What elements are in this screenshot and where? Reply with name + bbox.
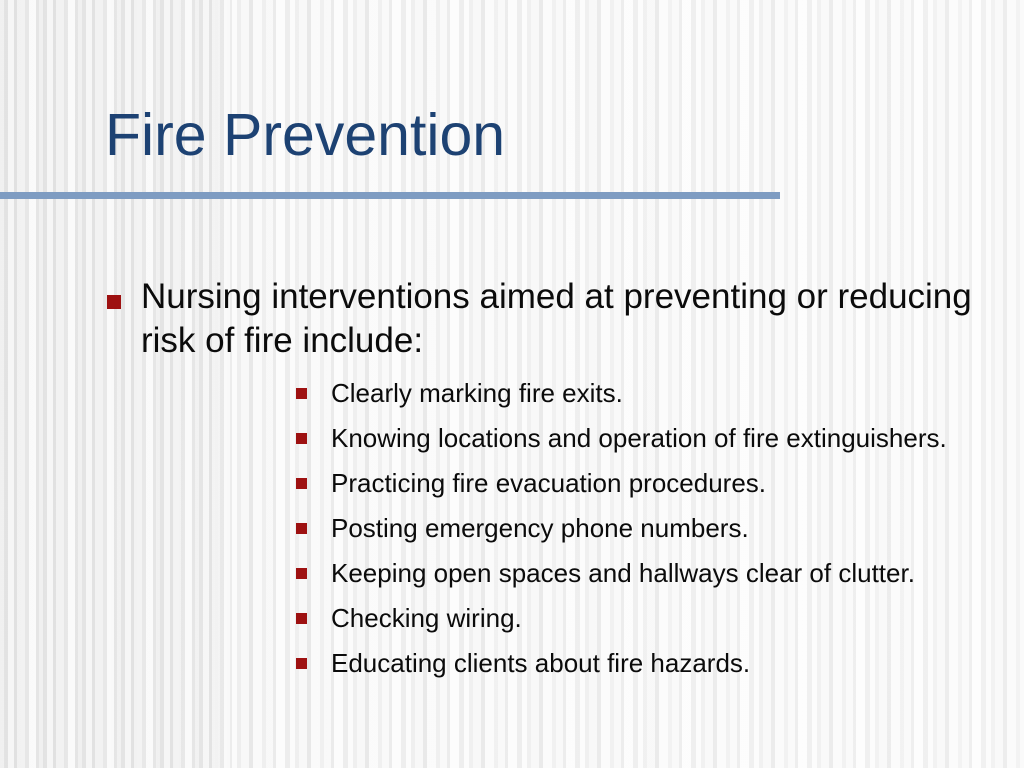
red-square-bullet-icon <box>296 568 307 579</box>
bullet-list-level1: Nursing interventions aimed at preventin… <box>0 275 1024 686</box>
list-item: Posting emergency phone numbers. <box>141 506 1024 551</box>
list-item: Knowing locations and operation of fire … <box>141 416 1024 461</box>
red-square-bullet-icon <box>296 433 307 444</box>
bullet-text-level2: Practicing fire evacuation procedures. <box>331 468 766 498</box>
red-square-bullet-icon <box>296 388 307 399</box>
red-square-bullet-icon <box>107 295 121 309</box>
list-item: Clearly marking fire exits. <box>141 371 1024 416</box>
red-square-bullet-icon <box>296 613 307 624</box>
red-square-bullet-icon <box>296 478 307 489</box>
bullet-list-level2: Clearly marking fire exits. Knowing loca… <box>141 371 1024 686</box>
list-item: Educating clients about fire hazards. <box>141 641 1024 686</box>
bullet-text-level2: Educating clients about fire hazards. <box>331 648 750 678</box>
list-item: Practicing fire evacuation procedures. <box>141 461 1024 506</box>
slide-body-content: Nursing interventions aimed at preventin… <box>0 275 1024 692</box>
bullet-text-level2: Clearly marking fire exits. <box>331 378 623 408</box>
bullet-text-level2: Checking wiring. <box>331 603 522 633</box>
title-divider-rule <box>0 192 780 199</box>
bullet-text-level2: Keeping open spaces and hallways clear o… <box>331 558 915 588</box>
list-item: Checking wiring. <box>141 596 1024 641</box>
page-title: Fire Prevention <box>105 103 965 167</box>
red-square-bullet-icon <box>296 523 307 534</box>
bullet-text-level2: Knowing locations and operation of fire … <box>331 423 947 453</box>
list-item: Nursing interventions aimed at preventin… <box>0 275 1024 686</box>
red-square-bullet-icon <box>296 658 307 669</box>
bullet-text-level1: Nursing interventions aimed at preventin… <box>141 275 1024 363</box>
bullet-text-level2: Posting emergency phone numbers. <box>331 513 749 543</box>
slide-title-block: Fire Prevention <box>105 103 965 167</box>
presentation-slide: Fire Prevention Nursing interventions ai… <box>0 0 1024 768</box>
list-item: Keeping open spaces and hallways clear o… <box>141 551 1024 596</box>
